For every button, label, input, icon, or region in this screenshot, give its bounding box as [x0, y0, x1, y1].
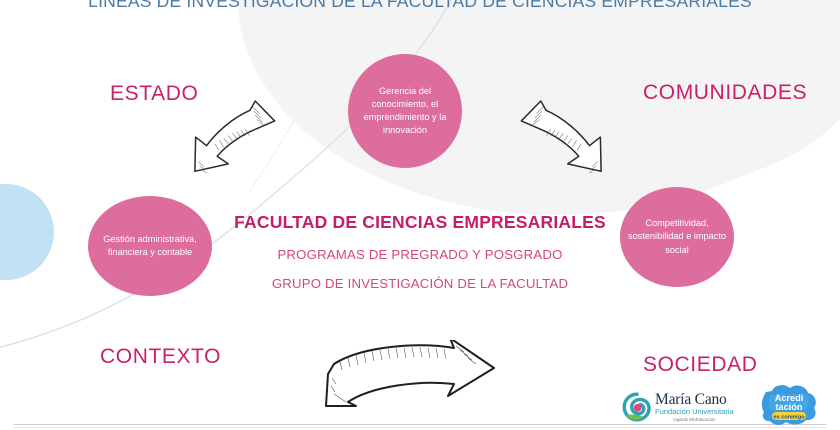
page-title: LÍNEAS DE INVESTIGACIÓN DE LA FACULTAD D… — [0, 0, 840, 12]
research-line-bubble-competitividad: Competitividad, sostenibilidad e impacto… — [620, 187, 734, 287]
research-line-bubble-gestion: Gestión administrativa, financiera y con… — [88, 196, 212, 296]
center-text-block: FACULTAD DE CIENCIAS EMPRESARIALES PROGR… — [210, 212, 630, 291]
research-group-line: GRUPO DE INVESTIGACIÓN DE LA FACULTAD — [210, 276, 630, 291]
research-line-text: Gestión administrativa, financiera y con… — [94, 233, 206, 259]
maria-cano-wordmark: María Cano Fundación Universitaria Vigil… — [655, 392, 734, 422]
accreditation-line3: es conmigo — [773, 414, 805, 420]
research-line-bubble-gerencia: Gerencia del conocimiento, el emprendimi… — [348, 54, 462, 168]
label-contexto: CONTEXTO — [100, 345, 221, 369]
programs-line: PROGRAMAS DE PREGRADO Y POSGRADO — [210, 247, 630, 262]
university-subtitle: Fundación Universitaria — [655, 408, 734, 416]
background-circle-blue — [0, 184, 54, 280]
university-name: María Cano — [655, 392, 734, 408]
sketch-arrow-right-icon — [322, 340, 502, 416]
research-line-text: Competitividad, sostenibilidad e impacto… — [626, 217, 728, 256]
maria-cano-logo: María Cano Fundación Universitaria Vigil… — [622, 386, 750, 428]
sketch-arrow-up-left-icon — [510, 92, 620, 182]
flower-swirl-icon — [622, 392, 652, 422]
slide-canvas: LÍNEAS DE INVESTIGACIÓN DE LA FACULTAD D… — [0, 0, 840, 430]
accreditation-line2: tación — [775, 402, 802, 412]
regulator-note: Vigilado MinEducación — [655, 418, 734, 422]
faculty-heading: FACULTAD DE CIENCIAS EMPRESARIALES — [210, 212, 630, 233]
accreditation-badge-icon: Acredi tación es conmigo — [758, 382, 820, 428]
label-comunidades: COMUNIDADES — [643, 81, 807, 105]
research-line-text: Gerencia del conocimiento, el emprendimi… — [354, 85, 456, 137]
label-sociedad: SOCIEDAD — [643, 353, 758, 377]
sketch-arrow-down-left-icon — [176, 92, 286, 182]
